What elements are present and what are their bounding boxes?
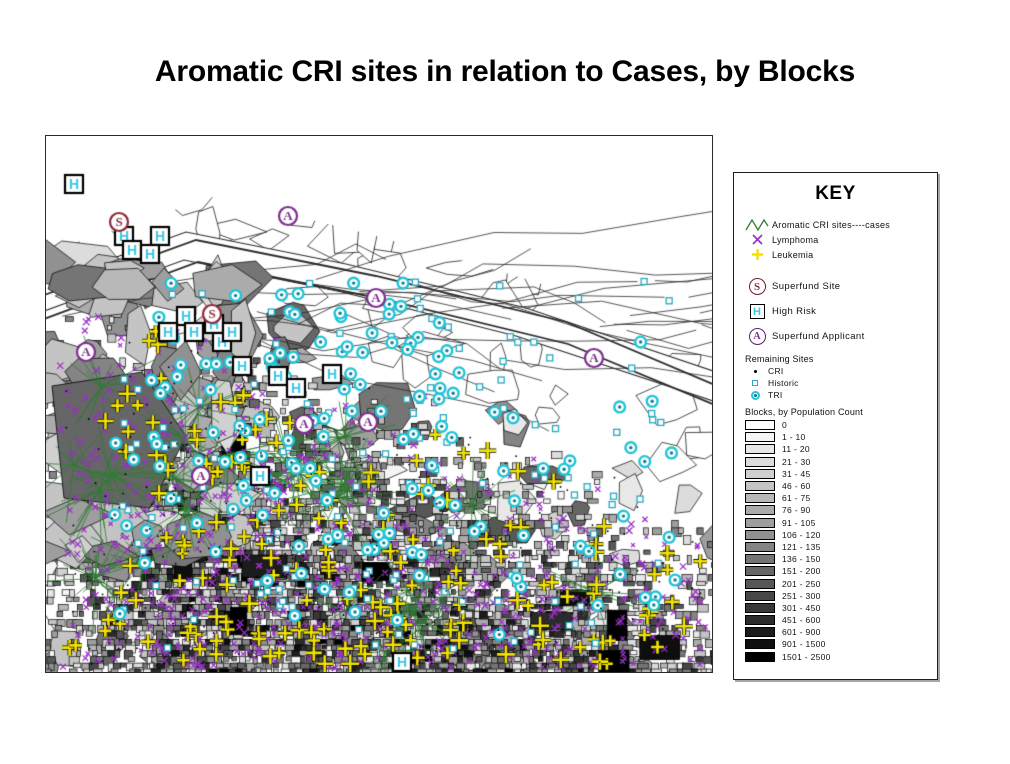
population-class-swatch bbox=[745, 566, 775, 576]
key-row-cri: CRI bbox=[742, 365, 937, 377]
population-class-label: 61 - 75 bbox=[782, 493, 811, 503]
map-legend-key-panel: KEY Aromatic CRI sites----cases Lymphoma… bbox=[733, 172, 938, 680]
key-site-symbols-group: S Superfund Site H High Risk A Superfund… bbox=[734, 274, 937, 349]
historic-square-icon bbox=[742, 377, 768, 389]
key-label-aromatic-cri-cases: Aromatic CRI sites----cases bbox=[772, 220, 890, 230]
population-class-label: 1501 - 2500 bbox=[782, 652, 831, 662]
key-row-aromatic-cri-cases: Aromatic CRI sites----cases bbox=[742, 217, 937, 232]
key-label-high-risk: High Risk bbox=[772, 306, 816, 317]
population-class-row: 251 - 300 bbox=[742, 590, 937, 602]
population-class-row: 451 - 600 bbox=[742, 614, 937, 626]
population-class-swatch bbox=[745, 432, 775, 442]
population-class-row: 151 - 200 bbox=[742, 565, 937, 577]
key-label-superfund-site: Superfund Site bbox=[772, 281, 840, 292]
page-title: Aromatic CRI sites in relation to Cases,… bbox=[0, 55, 1010, 89]
population-class-swatch bbox=[745, 627, 775, 637]
key-label-lymphoma: Lymphoma bbox=[772, 235, 819, 245]
key-row-leukemia: Leukemia bbox=[742, 247, 937, 262]
population-class-label: 0 bbox=[782, 420, 787, 430]
tri-circle-icon bbox=[742, 389, 768, 401]
population-class-row: 121 - 135 bbox=[742, 541, 937, 553]
key-row-lymphoma: Lymphoma bbox=[742, 232, 937, 247]
map-frame[interactable] bbox=[45, 135, 713, 673]
key-label-historic: Historic bbox=[768, 378, 799, 388]
population-class-row: 0 bbox=[742, 419, 937, 431]
key-population-classes-heading: Blocks, by Population Count bbox=[745, 407, 937, 417]
map-canvas[interactable] bbox=[46, 136, 712, 672]
population-class-label: 601 - 900 bbox=[782, 627, 821, 637]
population-class-swatch bbox=[745, 542, 775, 552]
population-class-label: 301 - 450 bbox=[782, 603, 821, 613]
population-class-label: 136 - 150 bbox=[782, 554, 821, 564]
key-heading: KEY bbox=[734, 183, 937, 205]
population-class-swatch bbox=[745, 444, 775, 454]
population-class-swatch bbox=[745, 505, 775, 515]
population-class-swatch bbox=[745, 652, 775, 662]
population-class-label: 1 - 10 bbox=[782, 432, 806, 442]
superfund-applicant-glyph: A bbox=[749, 328, 766, 345]
population-class-swatch bbox=[745, 530, 775, 540]
population-class-swatch bbox=[745, 518, 775, 528]
population-class-row: 46 - 60 bbox=[742, 480, 937, 492]
population-class-swatch bbox=[745, 457, 775, 467]
key-row-historic: Historic bbox=[742, 377, 937, 389]
key-remaining-sites-heading: Remaining Sites bbox=[745, 354, 937, 364]
population-class-swatch bbox=[745, 493, 775, 503]
key-population-classes-group: Blocks, by Population Count 01 - 1011 - … bbox=[734, 407, 937, 663]
population-class-swatch bbox=[745, 469, 775, 479]
population-class-row: 601 - 900 bbox=[742, 626, 937, 638]
key-row-high-risk: H High Risk bbox=[742, 299, 937, 324]
key-remaining-sites-group: Remaining Sites CRI Historic TRI bbox=[734, 354, 937, 401]
green-zigzag-line-icon bbox=[742, 217, 772, 232]
key-label-superfund-applicant: Superfund Applicant bbox=[772, 331, 865, 342]
purple-x-icon bbox=[742, 232, 772, 247]
population-class-label: 46 - 60 bbox=[782, 481, 811, 491]
population-class-label: 251 - 300 bbox=[782, 591, 821, 601]
population-class-row: 76 - 90 bbox=[742, 504, 937, 516]
key-row-superfund-applicant: A Superfund Applicant bbox=[742, 324, 937, 349]
population-class-row: 106 - 120 bbox=[742, 529, 937, 541]
yellow-plus-icon bbox=[742, 247, 772, 262]
population-class-row: 61 - 75 bbox=[742, 492, 937, 504]
population-class-row: 1501 - 2500 bbox=[742, 651, 937, 663]
population-class-label: 91 - 105 bbox=[782, 518, 816, 528]
population-class-swatch bbox=[745, 579, 775, 589]
cri-dot-icon bbox=[742, 365, 768, 377]
population-class-swatch bbox=[745, 481, 775, 491]
key-row-superfund-site: S Superfund Site bbox=[742, 274, 937, 299]
population-class-label: 21 - 30 bbox=[782, 457, 811, 467]
population-class-swatch bbox=[745, 603, 775, 613]
superfund-applicant-icon: A bbox=[742, 329, 772, 344]
key-row-tri: TRI bbox=[742, 389, 937, 401]
key-label-cri: CRI bbox=[768, 366, 784, 376]
population-class-swatch bbox=[745, 639, 775, 649]
population-class-row: 1 - 10 bbox=[742, 431, 937, 443]
population-class-row: 21 - 30 bbox=[742, 456, 937, 468]
population-class-row: 91 - 105 bbox=[742, 517, 937, 529]
high-risk-glyph: H bbox=[750, 304, 765, 319]
population-class-row: 11 - 20 bbox=[742, 443, 937, 455]
population-class-label: 106 - 120 bbox=[782, 530, 821, 540]
population-class-row: 31 - 45 bbox=[742, 468, 937, 480]
key-case-symbols-group: Aromatic CRI sites----cases Lymphoma Leu… bbox=[734, 217, 937, 262]
high-risk-icon: H bbox=[742, 304, 772, 319]
population-class-label: 901 - 1500 bbox=[782, 639, 826, 649]
population-class-row: 901 - 1500 bbox=[742, 638, 937, 650]
population-class-row: 201 - 250 bbox=[742, 577, 937, 589]
superfund-site-icon: S bbox=[742, 279, 772, 294]
key-label-leukemia: Leukemia bbox=[772, 250, 813, 260]
population-class-label: 451 - 600 bbox=[782, 615, 821, 625]
population-class-label: 201 - 250 bbox=[782, 579, 821, 589]
key-population-class-list: 01 - 1011 - 2021 - 3031 - 4546 - 6061 - … bbox=[742, 419, 937, 663]
population-class-row: 136 - 150 bbox=[742, 553, 937, 565]
population-class-swatch bbox=[745, 615, 775, 625]
population-class-label: 151 - 200 bbox=[782, 566, 821, 576]
population-class-label: 121 - 135 bbox=[782, 542, 821, 552]
population-class-swatch bbox=[745, 420, 775, 430]
population-class-label: 31 - 45 bbox=[782, 469, 811, 479]
population-class-label: 76 - 90 bbox=[782, 505, 811, 515]
superfund-site-glyph: S bbox=[749, 278, 766, 295]
population-class-swatch bbox=[745, 591, 775, 601]
population-class-label: 11 - 20 bbox=[782, 444, 810, 454]
population-class-swatch bbox=[745, 554, 775, 564]
population-class-row: 301 - 450 bbox=[742, 602, 937, 614]
key-label-tri: TRI bbox=[768, 390, 783, 400]
